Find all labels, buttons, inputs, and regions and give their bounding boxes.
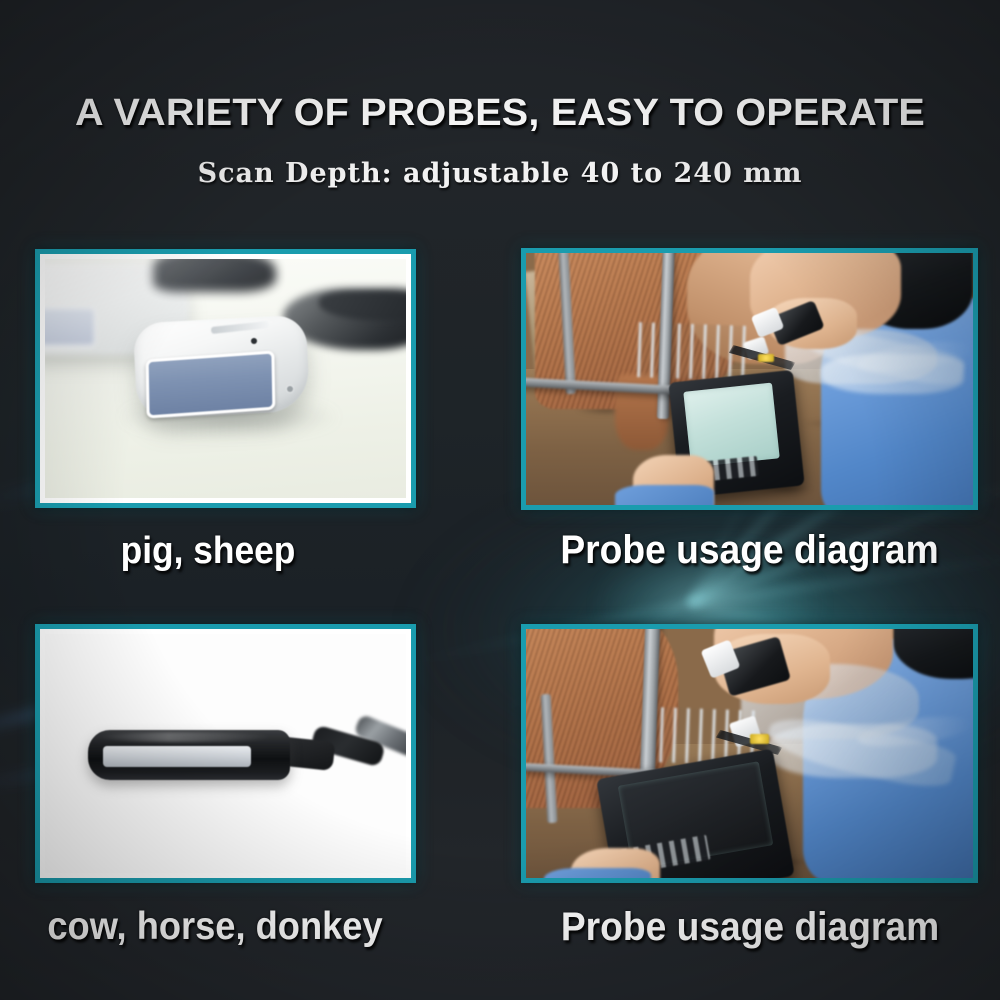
photo-convex-probes — [45, 259, 406, 498]
ultrasound-screen — [683, 382, 780, 467]
panel-convex-probes — [35, 249, 416, 508]
panel-image-frame — [526, 253, 973, 505]
caption-panel-convex-probes: pig, sheep — [15, 530, 402, 573]
probe-primary-face — [146, 350, 275, 418]
probe-gloss-highlight — [99, 732, 272, 742]
vet-glove — [821, 354, 964, 394]
coverall-cuff — [544, 868, 651, 878]
panel-usage-top — [521, 248, 978, 510]
probe-transducer-face — [103, 746, 251, 766]
vet-glove — [767, 724, 937, 779]
page-title: A VARIETY OF PROBES, EASY TO OPERATE — [0, 92, 1000, 135]
panel-usage-bottom — [521, 624, 978, 883]
caption-panel-linear-probe: cow, horse, donkey — [15, 905, 415, 949]
photo-linear-probe — [45, 634, 406, 873]
connector-marker — [758, 354, 773, 363]
photo-vet-scanning-cow-closeup — [526, 629, 973, 878]
probe-secondary-face — [40, 307, 96, 347]
caption-panel-usage-top: Probe usage diagram — [537, 528, 962, 573]
panel-linear-probe — [35, 624, 416, 883]
product-banner: A VARIETY OF PROBES, EASY TO OPERATE Sca… — [0, 0, 1000, 1000]
probe-marker-dot — [251, 338, 257, 344]
panel-image-frame — [40, 254, 411, 503]
panel-image-frame — [526, 629, 973, 878]
metal-grate — [637, 322, 746, 381]
panel-image-frame — [40, 629, 411, 878]
page-subtitle: Scan Depth: adjustable 40 to 240 mm — [0, 158, 1000, 189]
photo-vet-scanning-cow — [526, 253, 973, 505]
probe-secondary-cable — [153, 254, 276, 292]
caption-panel-usage-bottom: Probe usage diagram — [531, 905, 968, 950]
connector-marker — [750, 734, 770, 744]
coverall-cuff — [615, 485, 713, 505]
